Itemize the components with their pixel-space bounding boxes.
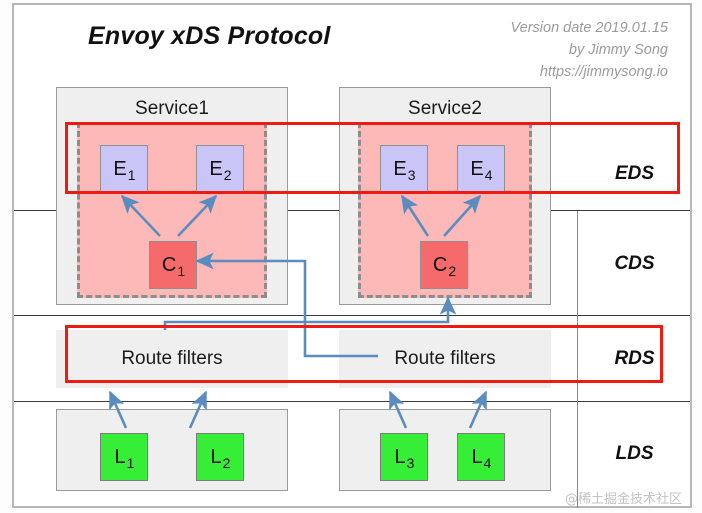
row-divider-rds-lds xyxy=(14,401,690,402)
listener-label-l1: L xyxy=(115,446,126,469)
highlight-eds-row xyxy=(65,122,680,194)
cluster-label-c1: C xyxy=(162,254,176,277)
diagram-canvas: Envoy xDS Protocol Version date 2019.01.… xyxy=(0,0,702,513)
listener-sub-l3: 3 xyxy=(407,455,415,471)
row-divider-cds-rds xyxy=(14,315,690,316)
highlight-rds-row xyxy=(65,325,663,383)
cluster-sub-c2: 2 xyxy=(448,263,456,279)
listener-node-l4[interactable]: L4 xyxy=(457,433,505,481)
meta-version: Version date 2019.01.15 xyxy=(408,17,668,39)
listeners-container-service1 xyxy=(56,409,288,491)
meta-author: by Jimmy Song xyxy=(408,39,668,61)
listener-label-l4: L xyxy=(472,446,483,469)
diagram-meta: Version date 2019.01.15 by Jimmy Song ht… xyxy=(408,17,668,83)
listener-sub-l4: 4 xyxy=(484,455,492,471)
cluster-node-c1[interactable]: C1 xyxy=(149,241,197,289)
xds-label-lds: LDS xyxy=(577,443,692,465)
service-title-service1: Service1 xyxy=(57,98,287,120)
listeners-container-service2 xyxy=(339,409,551,491)
cluster-node-c2[interactable]: C2 xyxy=(420,241,468,289)
cluster-sub-c1: 1 xyxy=(177,263,185,279)
listener-label-l2: L xyxy=(211,446,222,469)
xds-label-cds: CDS xyxy=(577,253,692,275)
diagram-frame: Envoy xDS Protocol Version date 2019.01.… xyxy=(12,3,692,508)
watermark: @稀土掘金技术社区 xyxy=(565,488,682,507)
listener-sub-l1: 1 xyxy=(127,455,135,471)
cluster-label-c2: C xyxy=(433,254,447,277)
listener-node-l3[interactable]: L3 xyxy=(380,433,428,481)
listener-sub-l2: 2 xyxy=(223,455,231,471)
page-title: Envoy xDS Protocol xyxy=(88,22,331,51)
listener-node-l1[interactable]: L1 xyxy=(100,433,148,481)
meta-url: https://jimmysong.io xyxy=(408,61,668,83)
listener-label-l3: L xyxy=(395,446,406,469)
service-title-service2: Service2 xyxy=(340,98,550,120)
listener-node-l2[interactable]: L2 xyxy=(196,433,244,481)
